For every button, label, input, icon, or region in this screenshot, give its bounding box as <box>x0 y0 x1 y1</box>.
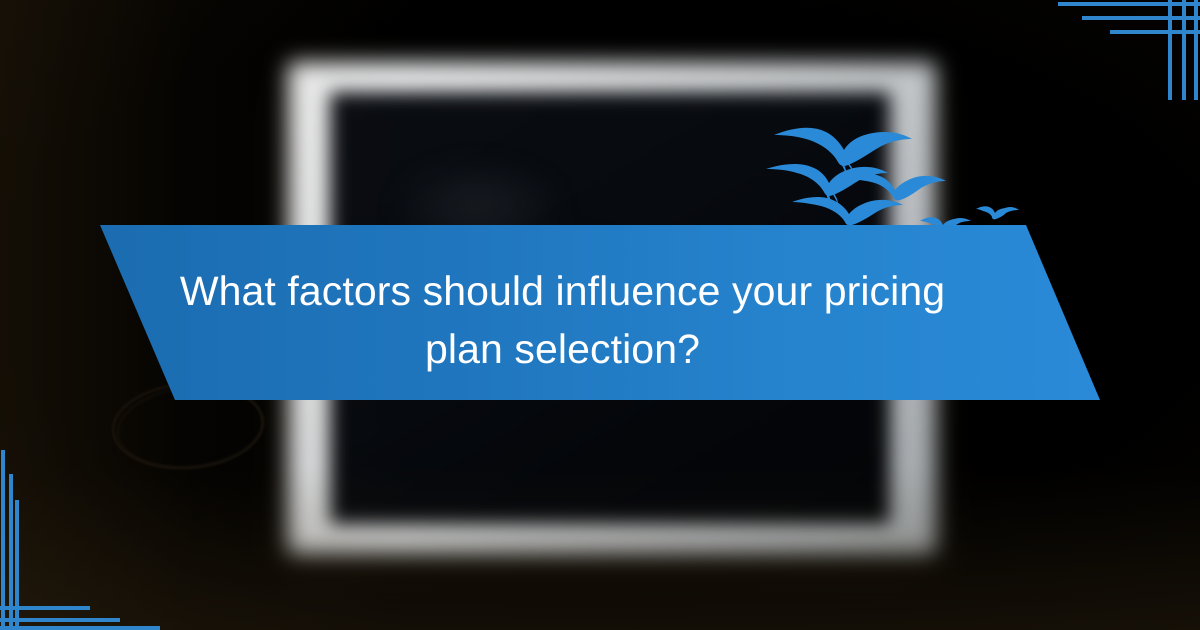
corner-lines-bottom-left-icon <box>0 430 160 630</box>
corner-lines-top-right-icon <box>1040 0 1200 100</box>
background-vignette <box>0 0 1200 630</box>
poster-canvas: What factors should influence your prici… <box>0 0 1200 630</box>
birds-icon <box>760 105 1020 235</box>
